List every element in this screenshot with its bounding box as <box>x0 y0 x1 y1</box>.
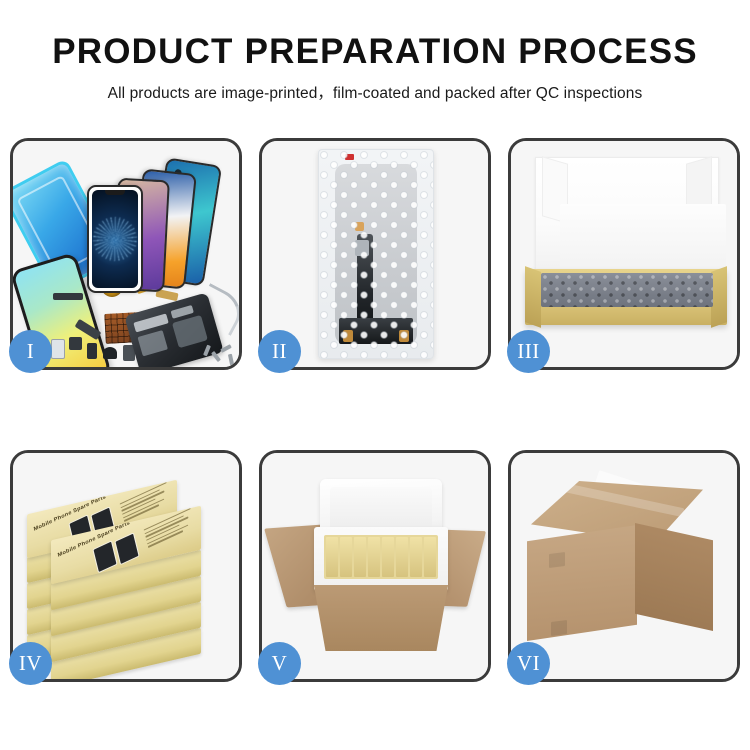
carton-left-face <box>527 525 637 641</box>
red-label-tab <box>345 154 354 160</box>
page-subtitle: All products are image-printed，film-coat… <box>0 71 750 103</box>
panel-4-image: Mobile Phone Spare Parts Mobile Phone Sp… <box>13 453 239 679</box>
earpiece-part <box>103 347 117 359</box>
styrofoam-case <box>314 527 448 591</box>
phone-display-fan <box>81 159 236 294</box>
page-header: PRODUCT PREPARATION PROCESS All products… <box>0 0 750 120</box>
white-foam-lid <box>535 157 719 279</box>
process-step-panel-6: VI <box>508 450 740 682</box>
panel-3-image <box>511 141 737 367</box>
bubble-wrap-bag <box>318 149 434 359</box>
step-badge-2: II <box>258 330 301 373</box>
phone-display-front-glass <box>87 185 143 293</box>
antenna-strip-part <box>53 293 83 300</box>
process-step-panel-4: Mobile Phone Spare Parts Mobile Phone Sp… <box>10 450 242 682</box>
grey-foam-padding <box>541 273 713 307</box>
panel-6-image <box>511 453 737 679</box>
carton-handle-tab-top <box>549 552 565 568</box>
carton-handle-tab-bottom <box>551 620 567 636</box>
process-step-panel-1: I <box>10 138 242 370</box>
inner-kraft-boxes <box>324 535 438 579</box>
process-step-panel-2: II <box>259 138 491 370</box>
screws-group <box>203 341 237 365</box>
step-badge-5: V <box>258 642 301 685</box>
kraft-tray-box <box>525 269 727 325</box>
process-step-grid: I II <box>10 138 740 683</box>
lcd-screen-assembly <box>335 164 417 344</box>
page-title: PRODUCT PREPARATION PROCESS <box>0 0 750 71</box>
panel-2-image <box>262 141 488 367</box>
kraft-box-stack: Mobile Phone Spare Parts Mobile Phone Sp… <box>21 467 233 665</box>
step-badge-3: III <box>507 330 550 373</box>
panel-1-image <box>13 141 239 367</box>
sim-tray-part <box>51 339 65 359</box>
step-badge-6: VI <box>507 642 550 685</box>
process-step-panel-3: III <box>508 138 740 370</box>
sealed-shipping-carton <box>525 475 727 661</box>
camera-module-part <box>69 337 82 350</box>
carton-front-wall <box>308 585 454 651</box>
step-badge-1: I <box>9 330 52 373</box>
carton-right-face <box>635 523 713 631</box>
panel-5-image <box>262 453 488 679</box>
vibrator-part <box>87 343 97 359</box>
process-step-panel-5: V <box>259 450 491 682</box>
step-badge-4: IV <box>9 642 52 685</box>
